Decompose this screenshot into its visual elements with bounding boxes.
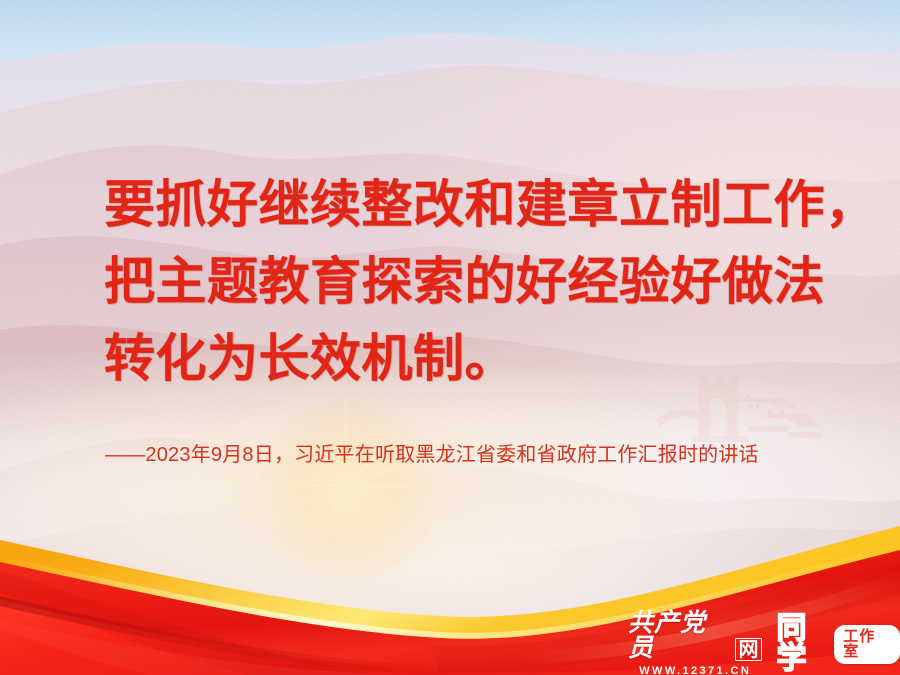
site-logo-calligraphy: 共产党员 网 [628, 611, 762, 661]
studio-logo[interactable]: 同学 工作室 [776, 614, 900, 674]
site-logo[interactable]: 共产党员 网 WWW.12371.CN [628, 611, 762, 675]
studio-name-text: 同学 [776, 614, 840, 674]
studio-badge: 工作室 [834, 625, 900, 664]
quote-block: 要抓好继续整改和建章立制工作， 把主题教育探索的好经验好做法 转化为长效机制。 [104, 166, 864, 397]
site-logo-name: 共产党员 [628, 611, 731, 661]
poster-canvas: 要抓好继续整改和建章立制工作， 把主题教育探索的好经验好做法 转化为长效机制。 … [0, 0, 900, 675]
logo-lockup[interactable]: 共产党员 网 WWW.12371.CN 同学 工作室 [628, 611, 900, 675]
quote-line-1: 要抓好继续整改和建章立制工作， [104, 166, 864, 243]
site-url-text: WWW.12371.CN [639, 665, 751, 675]
quote-attribution: ——2023年9月8日，习近平在听取黑龙江省委和省政府工作汇报时的讲话 [105, 442, 885, 468]
site-logo-suffix: 网 [735, 638, 762, 661]
quote-line-2: 把主题教育探索的好经验好做法 [104, 243, 864, 320]
quote-line-3: 转化为长效机制。 [104, 320, 864, 397]
